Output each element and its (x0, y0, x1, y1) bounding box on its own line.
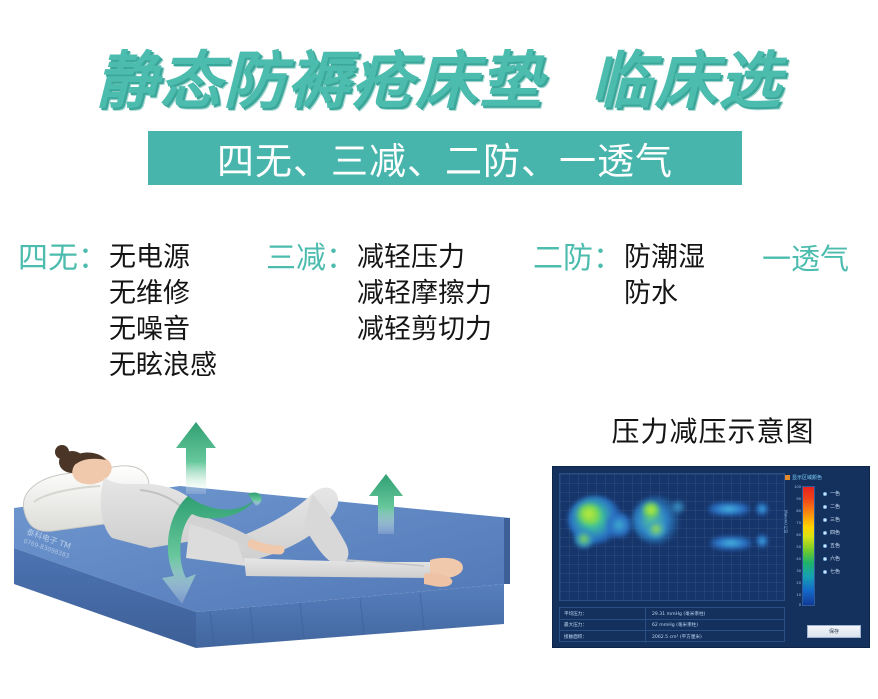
legend-item-label: 五色 (830, 542, 840, 549)
pressure-map-panel: 显示区域颜色 100 90 80 70 60 50 40 30 20 10 0 … (552, 466, 870, 648)
feature-item: 减轻压力 (357, 240, 492, 276)
feature-column-san-jian: 三减： 减轻压力 减轻摩擦力 减轻剪切力 (266, 240, 492, 348)
colorbar-tick: 80 (796, 509, 801, 513)
heat-blob (756, 534, 768, 548)
feature-label-si-wu: 四无： (18, 240, 108, 278)
legend-radio-item[interactable]: 一色 (823, 487, 840, 500)
legend-swatch-icon (785, 475, 790, 480)
diagram-heading: 压力减压示意图 (553, 410, 873, 450)
legend-item-label: 二色 (830, 503, 840, 510)
colorbar-tick: 0 (799, 603, 801, 607)
heat-blob (756, 502, 768, 516)
legend-radio-item[interactable]: 四色 (823, 526, 840, 539)
radio-icon (823, 505, 827, 509)
feature-item: 减轻摩擦力 (357, 276, 492, 312)
feature-item: 无眩浪感 (109, 348, 217, 384)
feature-item: 防水 (624, 276, 705, 312)
radio-icon (823, 531, 827, 535)
heat-blob (646, 520, 666, 538)
feature-item: 防潮湿 (624, 240, 705, 276)
feature-column-er-fang: 二防： 防潮湿 防水 (533, 240, 705, 312)
heat-blob (574, 530, 594, 548)
arrow-up-icon (176, 422, 216, 494)
pressure-map-legend: 显示区域颜色 100 90 80 70 60 50 40 30 20 10 0 … (783, 473, 863, 633)
heat-blob (708, 502, 750, 516)
colorbar-axis-label: 压力 (mmHg) (784, 510, 789, 533)
heat-blob (642, 502, 660, 518)
feature-columns: 四无： 无电源 无维修 无噪音 无眩浪感 三减： 减轻压力 减轻摩擦力 减轻剪切… (0, 240, 878, 390)
colorbar-tick: 20 (796, 581, 801, 585)
table-cell-key: 最大压力： (560, 620, 646, 631)
feature-label-yi-tou-qi: 一透气 (762, 240, 849, 278)
feature-items-san-jian: 减轻压力 减轻摩擦力 减轻剪切力 (357, 240, 492, 348)
colorbar-tick: 60 (796, 533, 801, 537)
radio-icon (823, 518, 827, 522)
pressure-map-canvas[interactable] (559, 473, 785, 601)
pressure-readout-table: 平均压力： 29.31 mmHg (毫米汞柱) 最大压力： 62 mmHg (毫… (559, 607, 785, 642)
feature-item: 减轻剪切力 (357, 312, 492, 348)
legend-item-label: 一色 (830, 490, 840, 497)
colorbar-tick: 70 (796, 521, 801, 525)
table-cell-value: 29.31 mmHg (毫米汞柱) (646, 608, 784, 619)
feature-item: 无维修 (109, 276, 217, 312)
table-row: 平均压力： 29.31 mmHg (毫米汞柱) (560, 608, 784, 620)
table-row: 接触面积： 2062.5 cm² (平方厘米) (560, 631, 784, 643)
radio-icon (823, 544, 827, 548)
feature-label-er-fang: 二防： (533, 240, 623, 278)
heat-blob (670, 500, 686, 514)
heat-blob (710, 536, 752, 550)
colorbar-tick: 100 (794, 485, 801, 489)
legend-item-label: 三色 (830, 516, 840, 523)
legend-radio-item[interactable]: 五色 (823, 539, 840, 552)
colorbar-tick: 90 (796, 497, 801, 501)
table-cell-value: 62 mmHg (毫米汞柱) (646, 620, 784, 631)
legend-radio-item[interactable]: 七色 (823, 565, 840, 578)
feature-item: 无电源 (109, 240, 217, 276)
table-cell-key: 接触面积： (560, 631, 646, 643)
feature-item: 无噪音 (109, 312, 217, 348)
table-cell-key: 平均压力： (560, 608, 646, 619)
feature-items-si-wu: 无电源 无维修 无噪音 无眩浪感 (109, 240, 217, 384)
radio-icon (823, 557, 827, 561)
legend-item-label: 四色 (830, 529, 840, 536)
page-title: 静态防褥疮床垫 临床选 (0, 30, 878, 120)
colorbar-tick: 50 (796, 545, 801, 549)
pressure-colorbar (802, 486, 815, 606)
subtitle-banner-text: 四无、三减、二防、一透气 (217, 131, 673, 185)
legend-item-label: 六色 (830, 555, 840, 562)
legend-radio-item[interactable]: 三色 (823, 513, 840, 526)
product-photo-illustration: 泰科电子 TM 0769-83098383 (0, 398, 545, 678)
radio-icon (823, 570, 827, 574)
table-row: 最大压力： 62 mmHg (毫米汞柱) (560, 620, 784, 632)
feature-label-san-jian: 三减： (266, 240, 356, 278)
colorbar-tick: 10 (796, 593, 801, 597)
feature-column-yi-tou-qi: 一透气 (762, 240, 849, 278)
feature-column-si-wu: 四无： 无电源 无维修 无噪音 无眩浪感 (18, 240, 217, 384)
legend-radio-item[interactable]: 六色 (823, 552, 840, 565)
save-button[interactable]: 保存 (807, 625, 861, 638)
colorbar-tick: 30 (796, 569, 801, 573)
legend-item-list: 一色 二色 三色 四色 五色 (823, 487, 840, 578)
legend-radio-item[interactable]: 二色 (823, 500, 840, 513)
product-photo: 泰科电子 TM 0769-83098383 (0, 398, 545, 678)
legend-title: 显示区域颜色 (785, 474, 822, 481)
legend-title-text: 显示区域颜色 (792, 475, 822, 481)
feature-items-er-fang: 防潮湿 防水 (624, 240, 705, 312)
radio-icon (823, 492, 827, 496)
heat-blob (606, 512, 632, 538)
colorbar-tick: 40 (796, 557, 801, 561)
heat-blob (576, 504, 602, 524)
subtitle-banner: 四无、三减、二防、一透气 (148, 131, 742, 185)
table-cell-value: 2062.5 cm² (平方厘米) (646, 631, 784, 643)
legend-item-label: 七色 (830, 568, 840, 575)
colorbar-ticks: 100 90 80 70 60 50 40 30 20 10 0 (787, 485, 801, 609)
poster-root: 静态防褥疮床垫 临床选 四无、三减、二防、一透气 四无： 无电源 无维修 无噪音… (0, 0, 878, 699)
